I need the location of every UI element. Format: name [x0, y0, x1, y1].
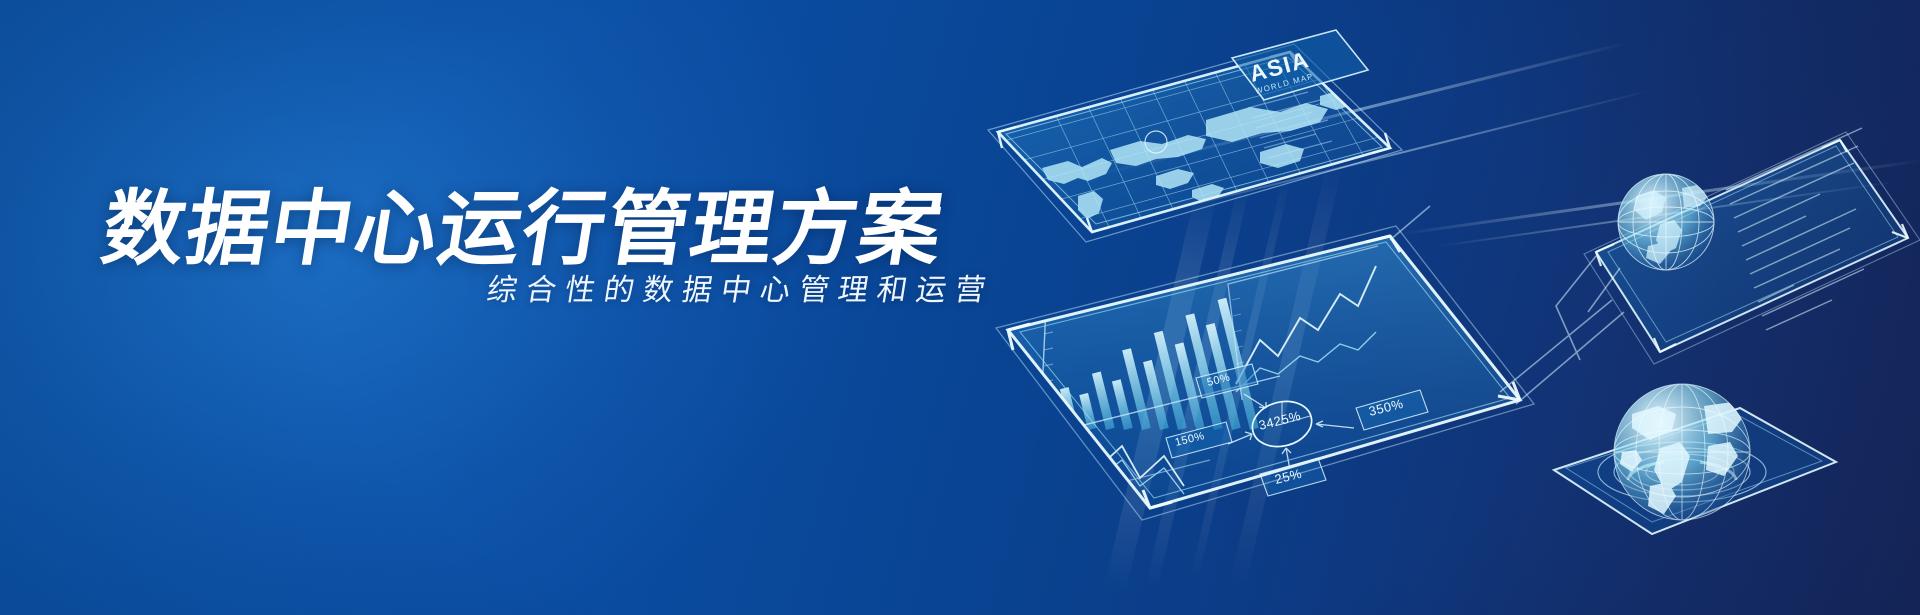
hero-graphic: ASIA WORLD MAP	[960, 0, 1920, 615]
hero-text-block: 数据中心运行管理方案 综合性的数据中心管理和运营	[0, 0, 1100, 615]
page-subtitle: 综合性的数据中心管理和运营	[485, 276, 997, 306]
globe-pedestal-icon	[1554, 384, 1836, 534]
chart-panel: 50% 150% 3425% 350% 25%	[996, 226, 1534, 520]
page-title: 数据中心运行管理方案	[97, 189, 950, 271]
wireframe-globe-icon	[1618, 174, 1714, 270]
info-panel	[1584, 128, 1920, 364]
banner-hero: 数据中心运行管理方案 综合性的数据中心管理和运营	[0, 0, 1920, 615]
